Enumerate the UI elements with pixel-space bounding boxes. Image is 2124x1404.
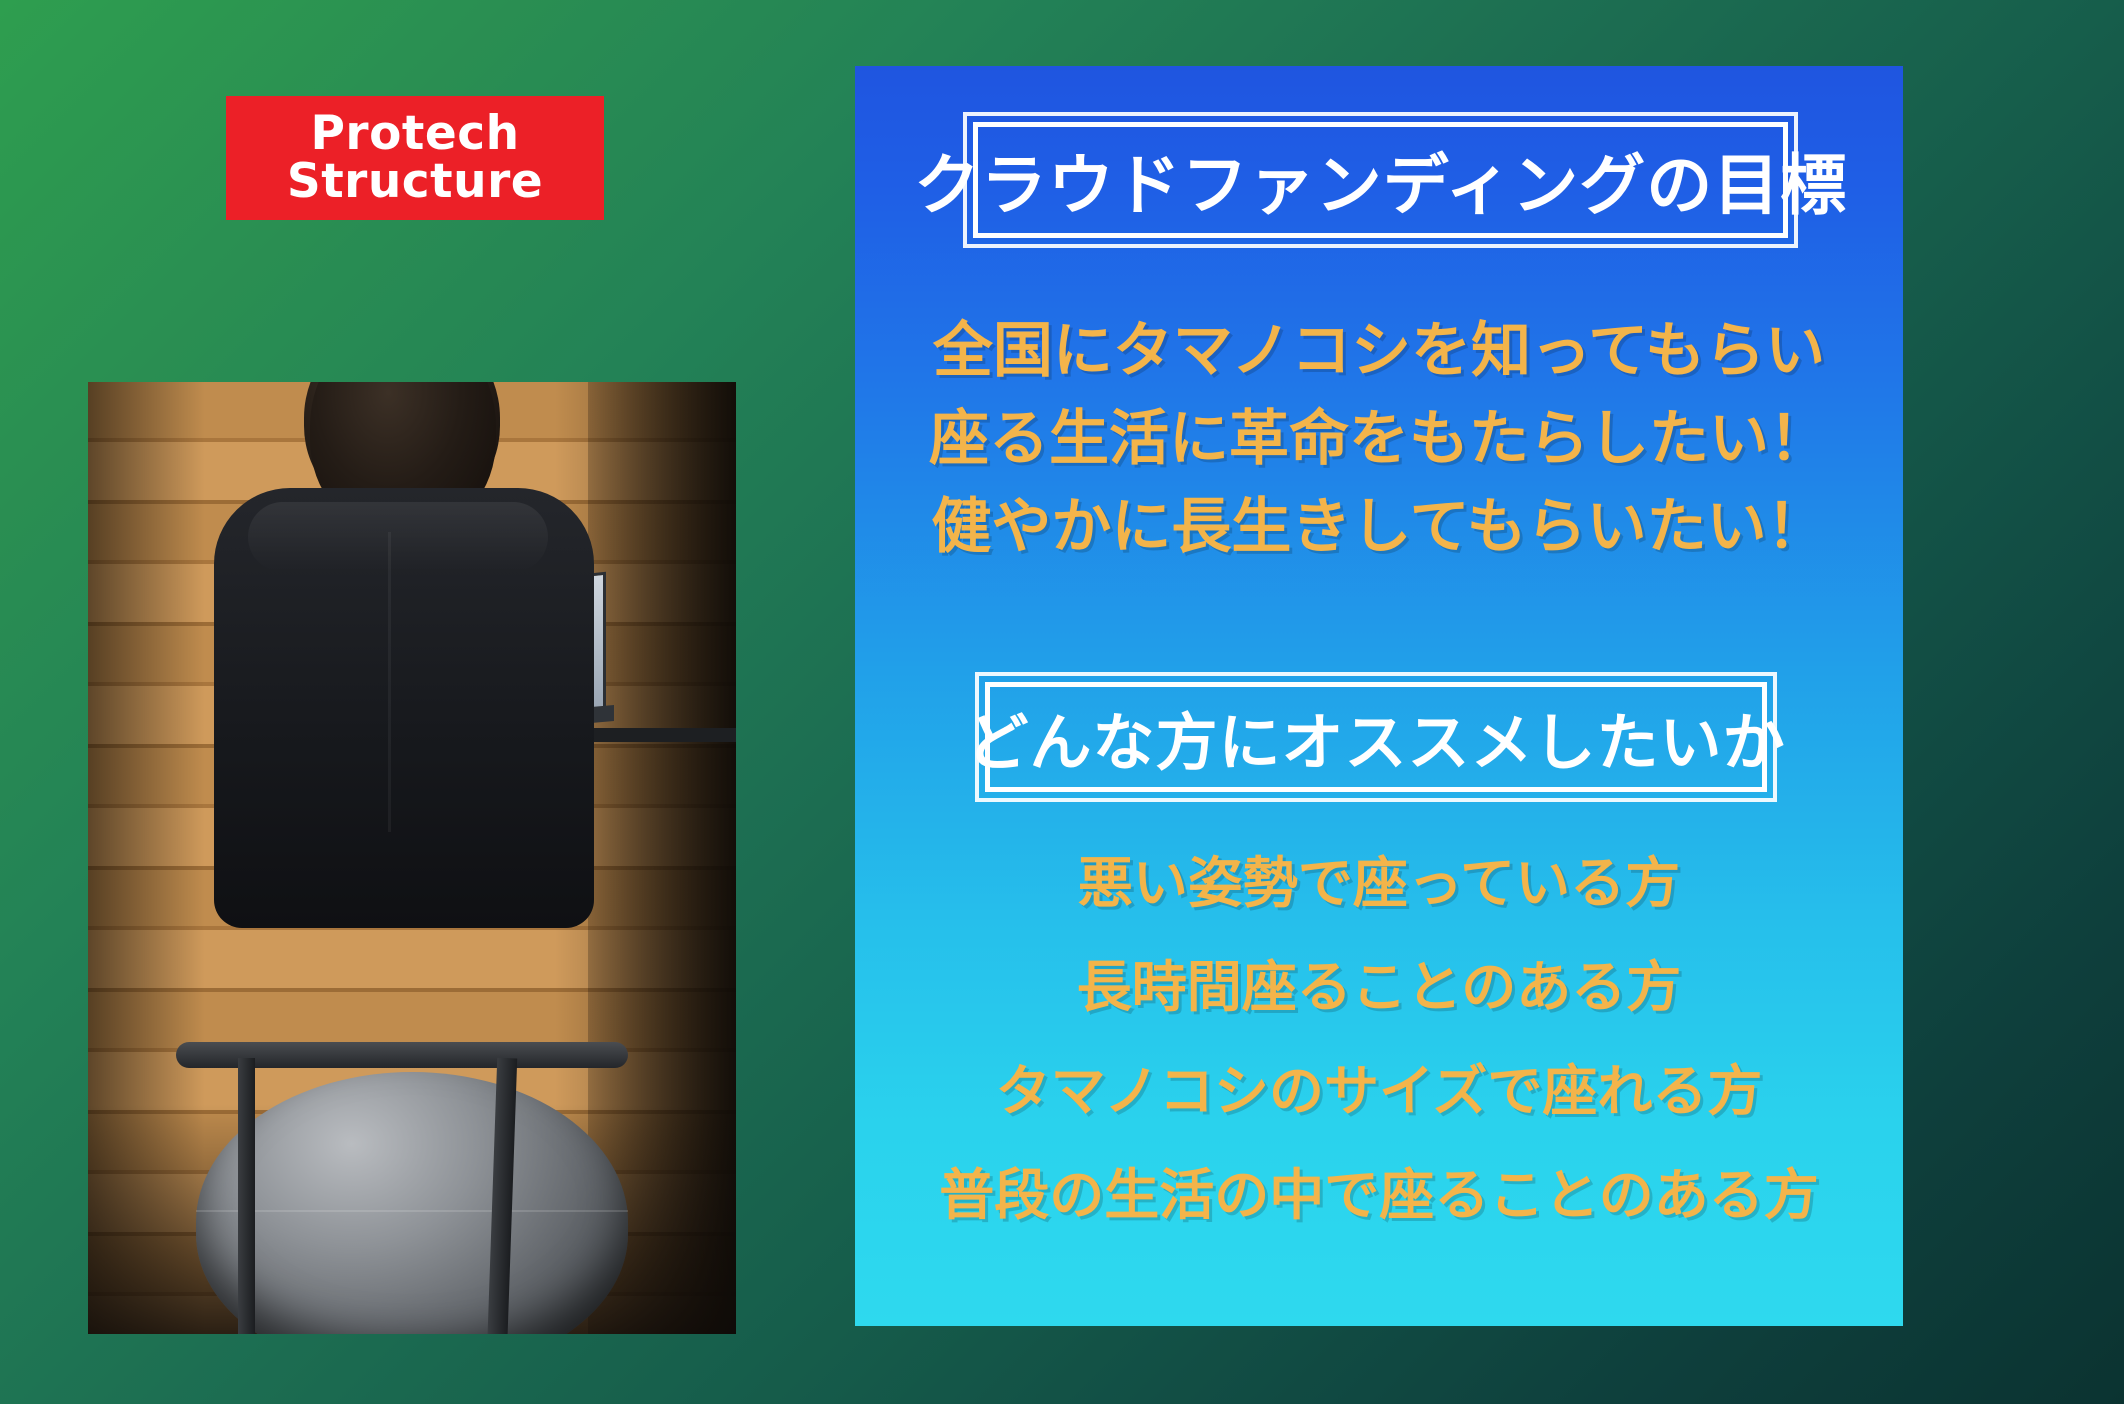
section-heading-goal: クラウドファンディングの目標 (973, 122, 1788, 238)
recommendation-line-3: タマノコシのサイズで座れる方 (855, 1046, 1903, 1126)
chair-post-left (238, 1058, 255, 1334)
brand-logo: Protech Structure (226, 96, 604, 220)
person-shoulder-highlight (248, 502, 548, 572)
recommendation-line-4: 普段の生活の中で座ることのある方 (855, 1150, 1903, 1230)
ball-seam (196, 1210, 628, 1212)
brand-logo-line-1: Protech (310, 110, 519, 158)
goal-line-2: 座る生活に革命をもたらしたい！ (855, 390, 1903, 477)
jacket-seam (388, 532, 391, 832)
section-heading-recommend-label: どんな方にオススメしたいか (967, 692, 1786, 782)
section-heading-recommend: どんな方にオススメしたいか (985, 682, 1767, 792)
section-heading-goal-label: クラウドファンディングの目標 (914, 132, 1847, 228)
goal-line-1: 全国にタマノコシを知ってもらい (855, 302, 1903, 389)
brand-logo-line-2: Structure (287, 158, 543, 206)
goal-line-3: 健やかに長生きしてもらいたい！ (855, 478, 1903, 565)
content-panel: クラウドファンディングの目標 全国にタマノコシを知ってもらい 座る生活に革命をも… (855, 66, 1903, 1326)
recommendation-line-2: 長時間座ることのある方 (855, 942, 1903, 1022)
recommendation-line-1: 悪い姿勢で座っている方 (855, 838, 1903, 918)
slide-canvas: Protech Structure クラウドファンディングの目標 全国にタマノコ… (0, 0, 2124, 1404)
product-photo (88, 382, 736, 1334)
